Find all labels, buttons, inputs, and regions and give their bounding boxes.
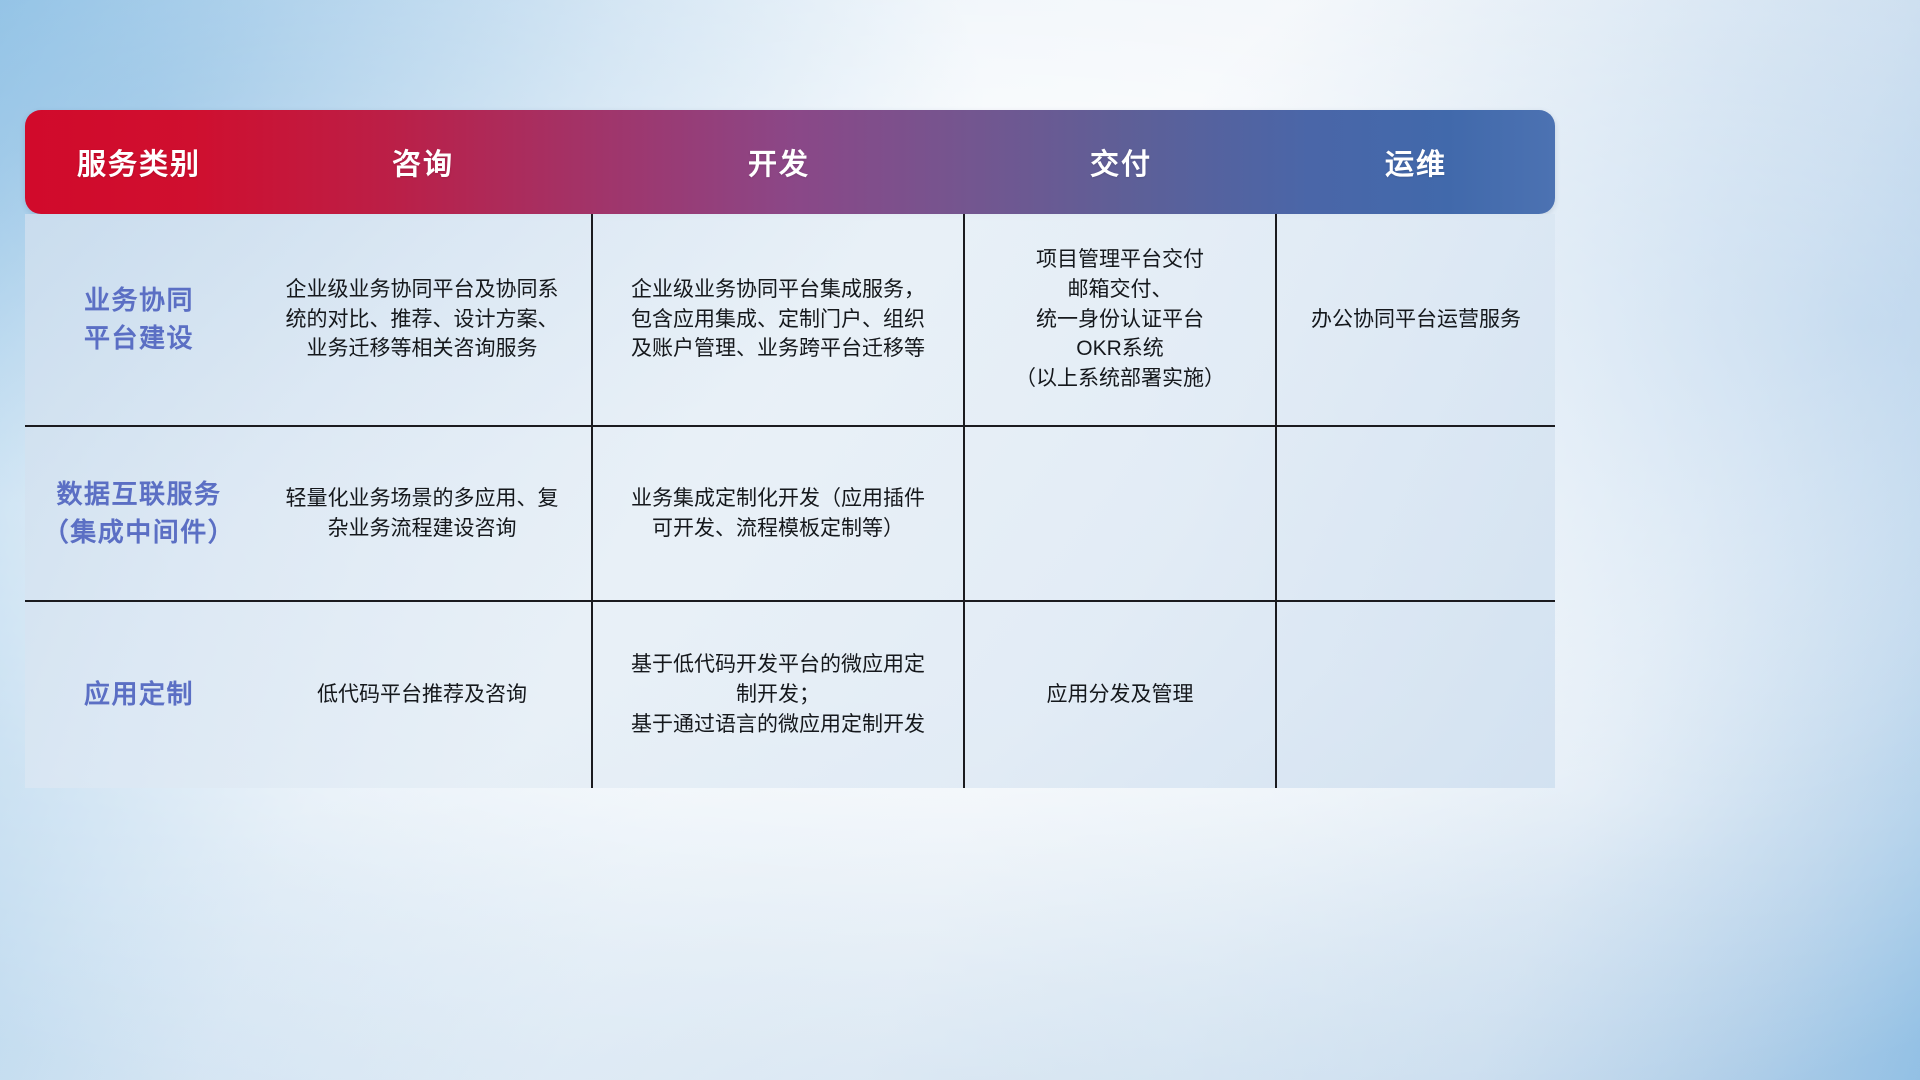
row-category-label: 数据互联服务 （集成中间件）: [25, 427, 253, 600]
header-cell-consulting: 咨询: [253, 110, 593, 214]
cell-operations: [1277, 602, 1555, 788]
header-cell-development: 开发: [593, 110, 965, 214]
cell-delivery: 应用分发及管理: [965, 602, 1277, 788]
row-category-label: 应用定制: [25, 602, 253, 788]
table-header-row: 服务类别 咨询 开发 交付 运维: [25, 110, 1555, 214]
header-cell-operations: 运维: [1277, 110, 1555, 214]
cell-operations: 办公协同平台运营服务: [1277, 214, 1555, 425]
slide-canvas: 服务类别 咨询 开发 交付 运维 业务协同 平台建设 企业级业务协同平台及协同系…: [0, 0, 1920, 1080]
cell-development: 业务集成定制化开发（应用插件 可开发、流程模板定制等）: [593, 427, 965, 600]
table-body: 业务协同 平台建设 企业级业务协同平台及协同系 统的对比、推荐、设计方案、 业务…: [25, 214, 1555, 788]
table-row: 数据互联服务 （集成中间件） 轻量化业务场景的多应用、复 杂业务流程建设咨询 业…: [25, 427, 1555, 602]
cell-consulting: 轻量化业务场景的多应用、复 杂业务流程建设咨询: [253, 427, 593, 600]
cell-development: 基于低代码开发平台的微应用定 制开发； 基于通过语言的微应用定制开发: [593, 602, 965, 788]
table-row: 应用定制 低代码平台推荐及咨询 基于低代码开发平台的微应用定 制开发； 基于通过…: [25, 602, 1555, 788]
service-matrix-table: 服务类别 咨询 开发 交付 运维 业务协同 平台建设 企业级业务协同平台及协同系…: [25, 110, 1555, 788]
cell-development: 企业级业务协同平台集成服务， 包含应用集成、定制门户、组织 及账户管理、业务跨平…: [593, 214, 965, 425]
cell-delivery: [965, 427, 1277, 600]
cell-consulting: 低代码平台推荐及咨询: [253, 602, 593, 788]
cell-consulting: 企业级业务协同平台及协同系 统的对比、推荐、设计方案、 业务迁移等相关咨询服务: [253, 214, 593, 425]
cell-operations: [1277, 427, 1555, 600]
table-row: 业务协同 平台建设 企业级业务协同平台及协同系 统的对比、推荐、设计方案、 业务…: [25, 214, 1555, 427]
header-cell-category: 服务类别: [25, 110, 253, 214]
cell-delivery: 项目管理平台交付 邮箱交付、 统一身份认证平台 OKR系统 （以上系统部署实施）: [965, 214, 1277, 425]
header-cell-delivery: 交付: [965, 110, 1277, 214]
row-category-label: 业务协同 平台建设: [25, 214, 253, 425]
